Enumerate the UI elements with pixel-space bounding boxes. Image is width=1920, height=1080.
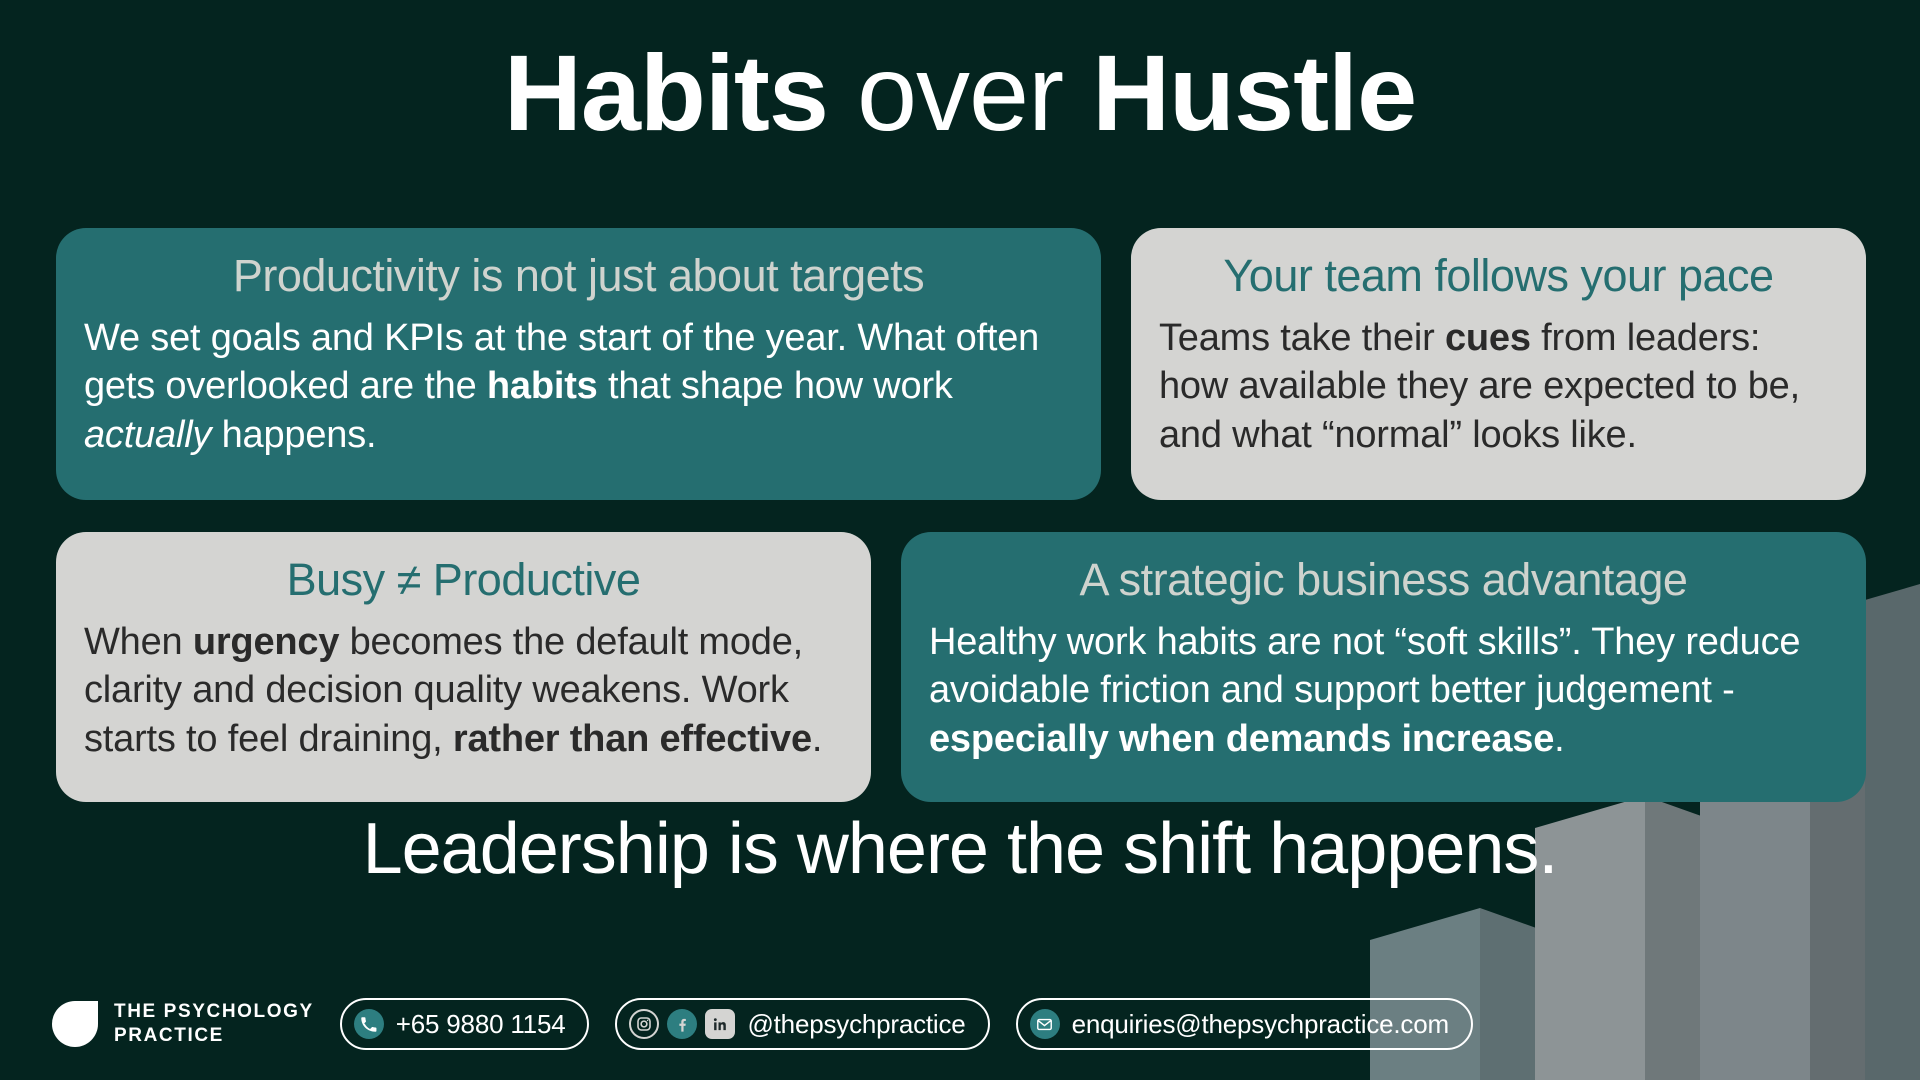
social-chip[interactable]: @thepsychpractice: [615, 998, 989, 1050]
instagram-icon[interactable]: [629, 1009, 659, 1039]
card-heading: Busy ≠ Productive: [84, 554, 843, 606]
card-body: Teams take their cues from leaders: how …: [1159, 314, 1838, 460]
brand-name: THE PSYCHOLOGY PRACTICE: [114, 1000, 314, 1049]
facebook-icon[interactable]: [667, 1009, 697, 1039]
phone-chip[interactable]: +65 9880 1154: [340, 998, 590, 1050]
linkedin-icon[interactable]: [705, 1009, 735, 1039]
title-part-3: Hustle: [1092, 32, 1416, 153]
card-productivity: Productivity is not just about targets W…: [56, 228, 1101, 500]
card-heading: A strategic business advantage: [929, 554, 1838, 606]
brand-line-2: PRACTICE: [114, 1024, 314, 1048]
email-address: enquiries@thepsychpractice.com: [1072, 1011, 1449, 1037]
card-body: When urgency becomes the default mode, c…: [84, 618, 843, 764]
card-grid-row-2: Busy ≠ Productive When urgency becomes t…: [56, 532, 1866, 802]
card-heading: Productivity is not just about targets: [84, 250, 1073, 302]
card-body: We set goals and KPIs at the start of th…: [84, 314, 1073, 460]
card-body: Healthy work habits are not “soft skills…: [929, 618, 1838, 764]
social-icon-group: [629, 1009, 735, 1039]
card-busy-vs-productive: Busy ≠ Productive When urgency becomes t…: [56, 532, 871, 802]
phone-number: +65 9880 1154: [396, 1011, 566, 1037]
email-chip[interactable]: enquiries@thepsychpractice.com: [1016, 998, 1473, 1050]
footer: THE PSYCHOLOGY PRACTICE +65 9880 1154: [52, 998, 1473, 1050]
envelope-icon: [1030, 1009, 1060, 1039]
page-title: Habits over Hustle: [0, 36, 1920, 149]
title-part-2: over: [857, 32, 1063, 153]
brand-line-1: THE PSYCHOLOGY: [114, 1000, 314, 1024]
phone-icon: [354, 1009, 384, 1039]
tagline: Leadership is where the shift happens.: [0, 808, 1920, 890]
teardrop-logo-icon: [52, 1001, 98, 1047]
social-handle: @thepsychpractice: [747, 1011, 965, 1037]
brand-logo: THE PSYCHOLOGY PRACTICE: [52, 1000, 314, 1049]
card-strategic-advantage: A strategic business advantage Healthy w…: [901, 532, 1866, 802]
card-team-pace: Your team follows your pace Teams take t…: [1131, 228, 1866, 500]
title-part-1: Habits: [504, 32, 828, 153]
infographic-canvas: Habits over Hustle Productivity is not j…: [0, 0, 1920, 1080]
card-heading: Your team follows your pace: [1159, 250, 1838, 302]
